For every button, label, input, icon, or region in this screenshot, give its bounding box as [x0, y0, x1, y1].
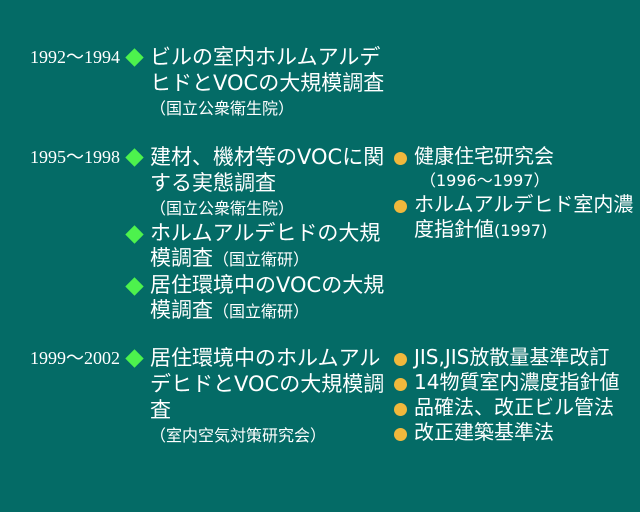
diamond-bullet-icon [128, 278, 146, 296]
list-item-label: 改正建築基準法 [414, 420, 638, 445]
timeline-row-1995-1998: 1995〜1998 建材、機材等のVOCに関する実態調査 （国立公衆衛生院） ホ… [8, 144, 638, 325]
list-item: ホルムアルデヒドの大規模調査（国立衛研） [128, 221, 390, 272]
circle-bullet-icon [394, 350, 412, 368]
list-item-label: 建材、機材等のVOCに関する実態調査 [150, 144, 390, 196]
list-item-label: 健康住宅研究会 [414, 144, 638, 169]
list-item-label: 14物質室内濃度指針値 [414, 370, 638, 395]
year-label-row-1: 1992〜1994 [8, 44, 128, 70]
survey-column-row-1: ビルの室内ホルムアルデヒドとVOCの大規模調査 （国立公衆衛生院） [128, 44, 390, 121]
list-item-label: JIS,JIS放散量基準改訂 [414, 345, 638, 370]
list-item-label: ビルの室内ホルムアルデヒドとVOCの大規模調査 [150, 44, 390, 96]
list-item: ビルの室内ホルムアルデヒドとVOCの大規模調査 [128, 44, 390, 96]
diamond-bullet-icon [128, 149, 146, 167]
diamond-bullet-icon [128, 226, 146, 244]
list-item: 建材、機材等のVOCに関する実態調査 [128, 144, 390, 196]
circle-bullet-icon [394, 400, 412, 418]
circle-bullet-icon [394, 425, 412, 443]
survey-column-row-3: 居住環境中のホルムアルデヒドとVOCの大規模調査 （室内空気対策研究会） [128, 345, 390, 448]
diamond-bullet-icon [128, 350, 146, 368]
timeline-row-1992-1994: 1992〜1994 ビルの室内ホルムアルデヒドとVOCの大規模調査 （国立公衆衛… [8, 44, 638, 121]
policy-column-row-2: 健康住宅研究会 （1996〜1997） ホルムアルデヒド室内濃度指針値(1997… [390, 144, 638, 243]
timeline-row-1999-2002: 1999〜2002 居住環境中のホルムアルデヒドとVOCの大規模調査 （室内空気… [8, 345, 638, 448]
list-item: 品確法、改正ビル管法 [394, 395, 638, 420]
list-item-note: （室内空気対策研究会） [128, 424, 390, 448]
list-item: 健康住宅研究会 [394, 144, 638, 169]
survey-column-row-2: 建材、機材等のVOCに関する実態調査 （国立公衆衛生院） ホルムアルデヒドの大規… [128, 144, 390, 325]
year-label-row-2: 1995〜1998 [8, 144, 128, 170]
list-item: 改正建築基準法 [394, 420, 638, 445]
diamond-bullet-icon [128, 49, 146, 67]
list-item: 居住環境中のVOCの大規模調査（国立衛研） [128, 273, 390, 324]
circle-bullet-icon [394, 197, 412, 215]
list-item: 居住環境中のホルムアルデヒドとVOCの大規模調査 [128, 345, 390, 423]
slide-canvas: 1992〜1994 ビルの室内ホルムアルデヒドとVOCの大規模調査 （国立公衆衛… [0, 0, 640, 512]
circle-bullet-icon [394, 375, 412, 393]
list-item-label: 居住環境中のホルムアルデヒドとVOCの大規模調査 [150, 345, 390, 423]
list-item-note: （国立公衆衛生院） [128, 197, 390, 221]
list-item-inline-note: (1997) [494, 221, 547, 240]
year-label-row-3: 1999〜2002 [8, 345, 128, 371]
list-item: ホルムアルデヒド室内濃度指針値(1997) [394, 192, 638, 243]
list-item-label-group: ホルムアルデヒドの大規模調査（国立衛研） [150, 221, 390, 272]
list-item-note: （1996〜1997） [394, 169, 638, 192]
policy-column-row-3: JIS,JIS放散量基準改訂 14物質室内濃度指針値 品確法、改正ビル管法 改正… [390, 345, 638, 445]
list-item-note: （国立公衆衛生院） [128, 97, 390, 121]
list-item-label-group: 居住環境中のVOCの大規模調査（国立衛研） [150, 273, 390, 324]
list-item: JIS,JIS放散量基準改訂 [394, 345, 638, 370]
list-item-inline-note: （国立衛研） [213, 250, 309, 269]
list-item-label-group: ホルムアルデヒド室内濃度指針値(1997) [414, 192, 638, 243]
list-item-label: 品確法、改正ビル管法 [414, 395, 638, 420]
list-item: 14物質室内濃度指針値 [394, 370, 638, 395]
list-item-inline-note: （国立衛研） [213, 302, 309, 321]
circle-bullet-icon [394, 149, 412, 167]
